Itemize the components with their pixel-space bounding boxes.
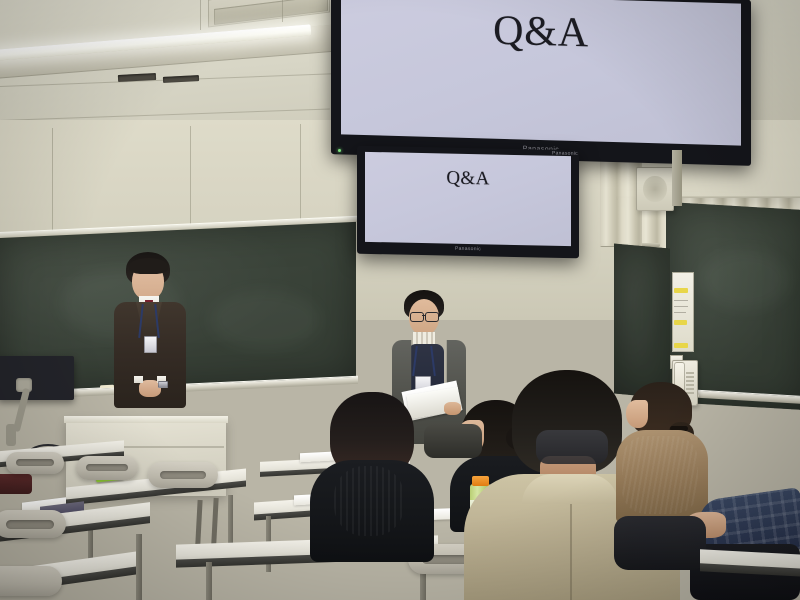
control-panel-label (674, 320, 687, 325)
secondary-slide-title: Q&A (365, 166, 571, 192)
chalk-smudge (700, 250, 790, 310)
main-slide-title: Q&A (341, 2, 741, 61)
presenter-left-wristwatch (158, 381, 168, 388)
standing-presenter-left (96, 252, 208, 432)
control-panel-line (674, 300, 688, 301)
control-panel-label (674, 343, 688, 348)
eyeglasses-bridge (422, 315, 425, 316)
audience-3-jacket-seam (570, 504, 572, 600)
display-mount-arm (672, 150, 682, 206)
eyeglasses (410, 312, 424, 322)
audience-member-1 (308, 392, 436, 562)
desk-leg (136, 534, 142, 600)
chair-dark-back (614, 516, 706, 570)
main-display-screen: Q&A (341, 0, 741, 146)
control-panel-line (674, 306, 688, 307)
presenter-left-fringe (129, 258, 168, 274)
audience-4-face (626, 400, 648, 428)
control-panel-line (674, 312, 686, 313)
wall-seam (300, 124, 301, 230)
control-panel-label (674, 288, 688, 293)
dark-red-bag (0, 474, 32, 494)
ceiling-tile-line (200, 0, 201, 30)
audience-3-jacket-collar (522, 474, 618, 504)
audience-member-5 (690, 470, 800, 600)
chair-backrest-cutout (16, 459, 54, 466)
audience-1-knit-texture (334, 466, 404, 536)
presenter-left-cuff (134, 376, 143, 383)
wall-seam (52, 128, 53, 232)
audience-4-jacket-texture (622, 436, 698, 514)
presenter-left-id-badge (144, 336, 157, 353)
lectern-top (64, 416, 228, 423)
podium-monitor (0, 356, 74, 400)
secondary-display-screen: Q&A (365, 152, 571, 246)
eyeglasses (425, 312, 439, 322)
wall-speaker (636, 167, 674, 211)
ceiling-tile-line (282, 0, 283, 22)
chair-dark-back (536, 430, 608, 464)
chair-backrest-cutout (160, 471, 206, 479)
desk-leg (206, 562, 212, 600)
chalk-smudge (210, 290, 320, 350)
bag-on-floor (424, 424, 482, 458)
main-display-power-led (338, 149, 341, 152)
chair[interactable] (0, 566, 62, 596)
chair-backrest-cutout (86, 464, 128, 471)
chair-backrest-cutout (6, 520, 54, 529)
wall-seam (190, 126, 191, 230)
monitor-arm-base (6, 424, 16, 446)
lecture-hall-photo: Q&A Panasonic Q&A Panasonic Panasonic (0, 0, 800, 600)
